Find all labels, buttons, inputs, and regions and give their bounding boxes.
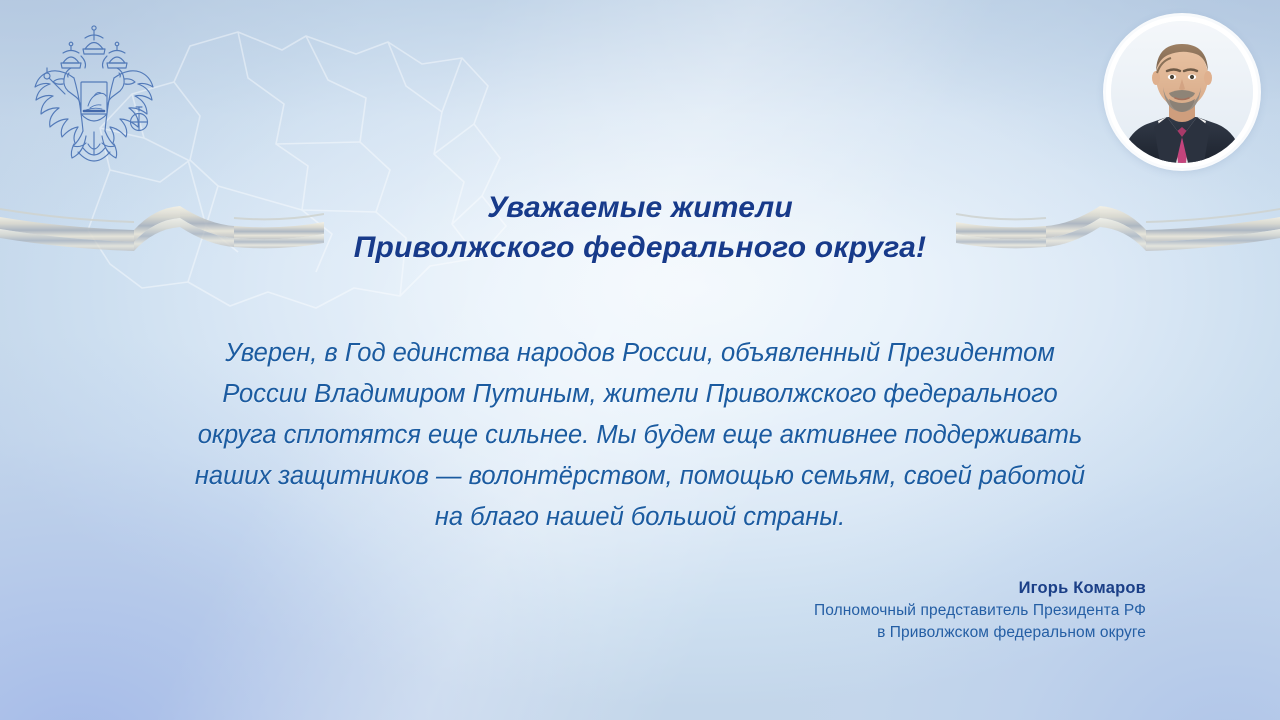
signature-title-line-1: Полномочный представитель Президента РФ	[814, 600, 1146, 622]
page-title-line-2: Приволжского федерального округа!	[0, 228, 1280, 268]
message-body: Уверен, в Год единства народов России, о…	[140, 333, 1140, 538]
official-portrait	[1106, 16, 1258, 168]
signature-name: Игорь Комаров	[814, 576, 1146, 600]
message-line-5: на благо нашей большой страны.	[140, 497, 1140, 538]
russian-coat-of-arms-icon	[26, 22, 162, 172]
message-line-4: наших защитников — волонтёрством, помощь…	[140, 456, 1140, 497]
signature-title-line-2: в Приволжском федеральном округе	[814, 622, 1146, 644]
message-line-3: округа сплотятся еще сильнее. Мы будем е…	[140, 415, 1140, 456]
signature-block: Игорь Комаров Полномочный представитель …	[814, 576, 1146, 644]
page-title: Уважаемые жители Приволжского федерально…	[0, 188, 1280, 267]
message-line-2: России Владимиром Путиным, жители Привол…	[140, 374, 1140, 415]
message-line-1: Уверен, в Год единства народов России, о…	[140, 333, 1140, 374]
portrait-image	[1111, 21, 1253, 163]
page-title-line-1: Уважаемые жители	[0, 188, 1280, 228]
address-poster: Уважаемые жители Приволжского федерально…	[0, 0, 1280, 720]
